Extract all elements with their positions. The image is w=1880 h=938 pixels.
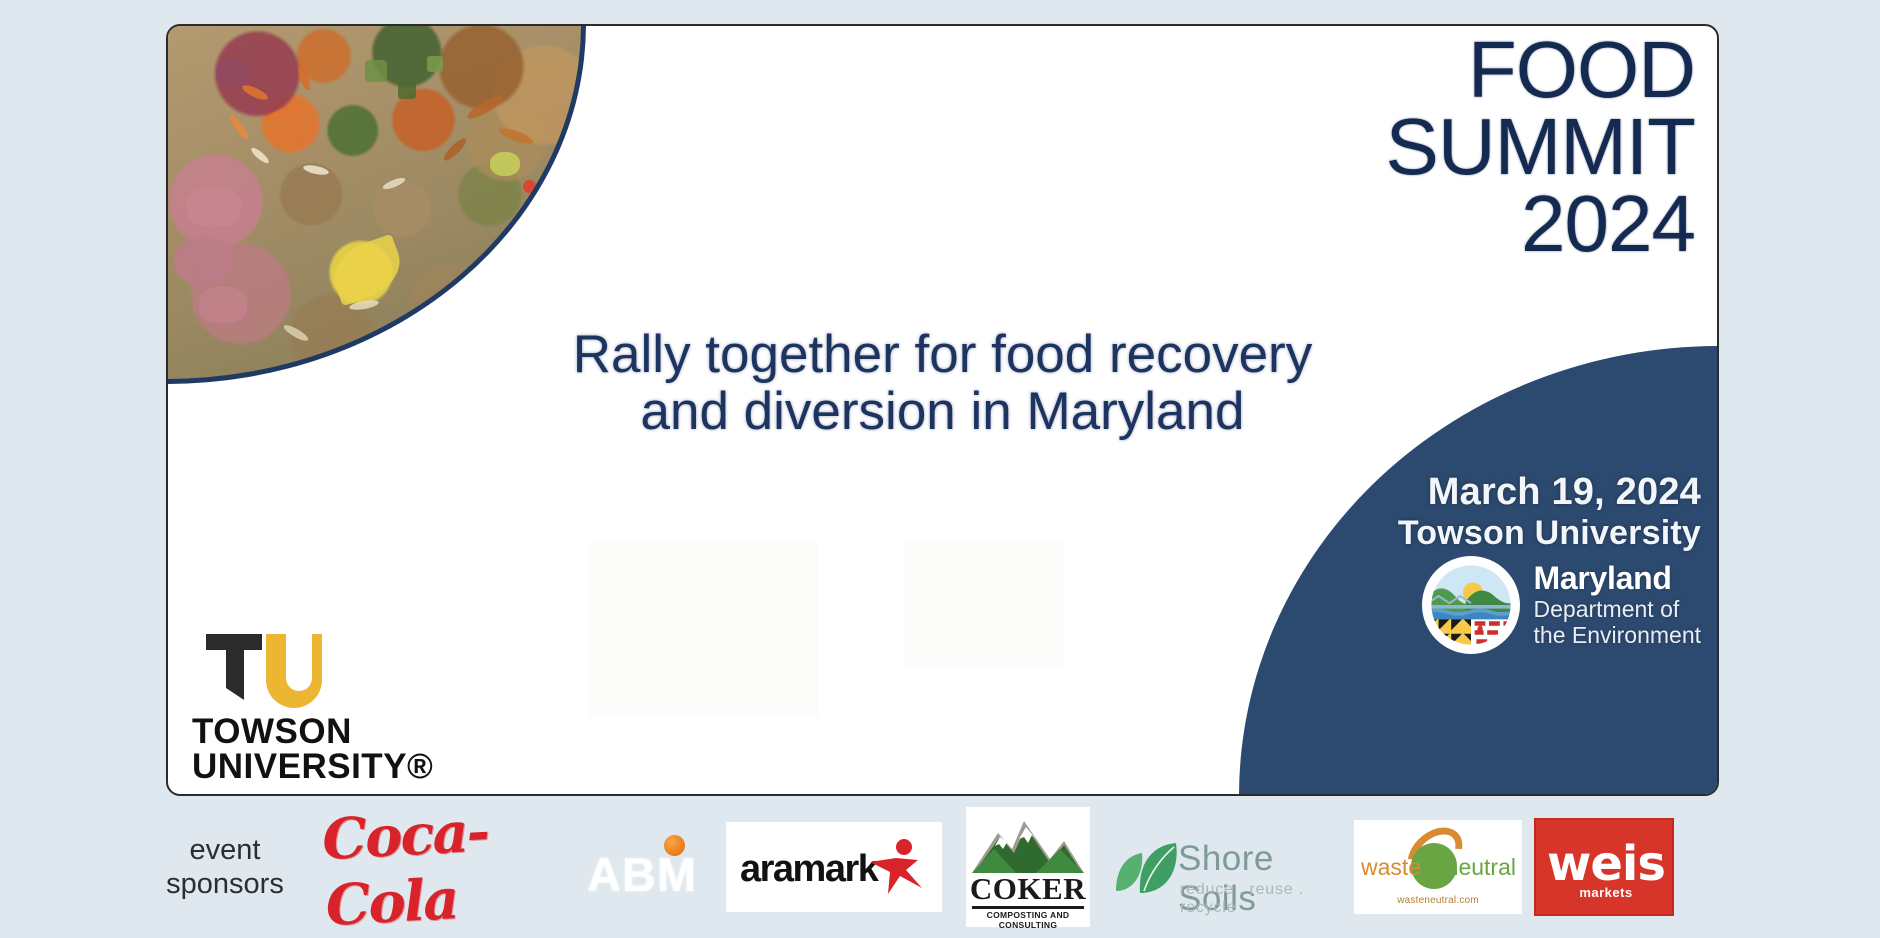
ghost-watermark-right [904,538,1064,666]
event-details: March 19, 2024 Towson University [1398,470,1701,554]
coker-mountain-icon [972,815,1084,873]
tu-monogram-icon [200,630,328,708]
headline-line-3: 2024 [1385,186,1695,263]
mde-wordmark: Maryland Department of the Environment [1534,561,1701,648]
towson-university-logo: TOWSON UNIVERSITY® [192,630,392,784]
sponsors-label-line-1: event [150,833,300,867]
towson-line-1: TOWSON [192,714,392,749]
coker-rule [972,906,1084,909]
sponsor-logo-shore-soils[interactable]: Shore Soils reduce . reuse . recycle [1110,821,1340,913]
towson-line-2: UNIVERSITY® [192,749,392,784]
shore-soils-leaf-icon [1110,839,1182,897]
page-title: FOOD SUMMIT 2024 [1385,32,1695,262]
aramark-wordmark: aramark [740,848,877,891]
sponsor-logo-waste-neutral[interactable]: waste neutral wasteneutral.com [1354,820,1522,914]
ghost-watermark-left [588,542,818,718]
event-sponsors-strip: event sponsors Coca-Cola ABM aramark [0,796,1880,938]
coca-cola-wordmark: Coca-Cola [321,795,560,938]
flyer-page: FOOD SUMMIT 2024 Rally together for food… [0,0,1880,938]
weis-wordmark: weis [1536,836,1676,892]
mde-sub-line2: the Environment [1534,623,1701,649]
coker-wordmark: COKER [966,871,1090,907]
waste-neutral-word-2: neutral [1446,854,1516,881]
waste-neutral-word-1: waste [1361,854,1421,881]
sponsors-label-line-2: sponsors [150,867,300,901]
sponsor-logo-aramark[interactable]: aramark [726,822,942,912]
weis-tagline: markets [1536,885,1676,900]
event-venue: Towson University [1398,514,1701,553]
sponsor-logo-weis-markets[interactable]: weis markets [1534,818,1674,916]
mde-name: Maryland [1534,561,1701,597]
sponsor-logo-abm[interactable]: ABM [572,821,712,913]
waste-neutral-url: wasteneutral.com [1354,895,1522,906]
maryland-state-seal-icon [1422,556,1520,654]
headline-line-1: FOOD [1385,32,1695,109]
headline-line-2: SUMMIT [1385,109,1695,186]
towson-wordmark: TOWSON UNIVERSITY® [192,714,392,784]
abm-wordmark: ABM [572,847,712,902]
mde-sub-line1: Department of [1534,597,1701,623]
tagline-line-2: and diversion in Maryland [168,383,1717,440]
food-summit-flyer-card: FOOD SUMMIT 2024 Rally together for food… [166,24,1719,796]
flyer-tagline: Rally together for food recovery and div… [168,326,1717,440]
sponsor-logo-coker[interactable]: COKER COMPOSTING AND CONSULTING [966,807,1090,927]
event-sponsors-label: event sponsors [150,833,300,901]
tagline-line-1: Rally together for food recovery [168,326,1717,383]
aramark-star-figure-icon [866,836,928,898]
coker-tagline: COMPOSTING AND CONSULTING [966,910,1090,930]
event-date: March 19, 2024 [1398,470,1701,514]
mde-logo: Maryland Department of the Environment [1422,556,1701,654]
shore-soils-tagline: reduce . reuse . recycle [1180,881,1340,917]
sponsor-logo-coca-cola[interactable]: Coca-Cola [322,811,559,923]
